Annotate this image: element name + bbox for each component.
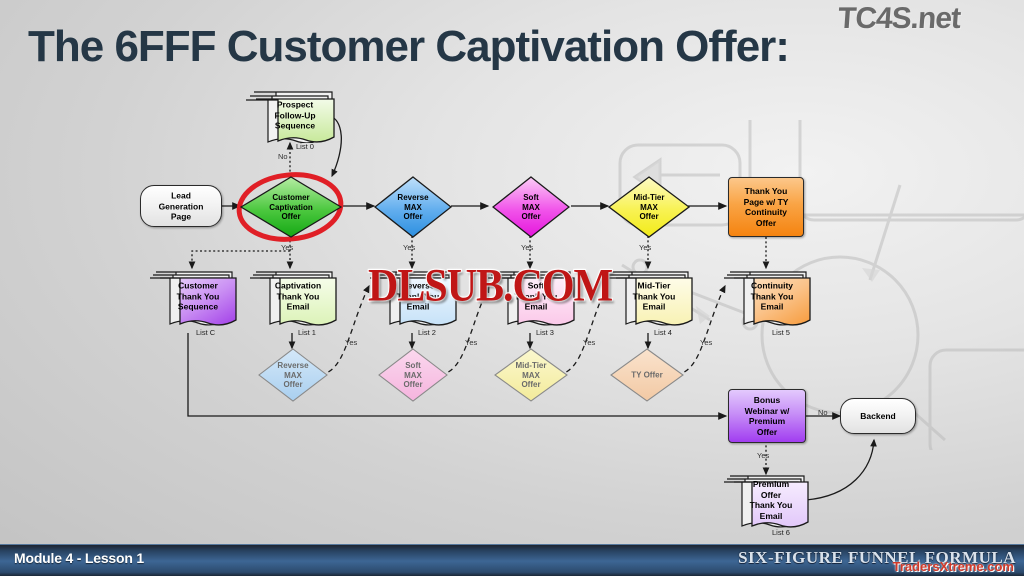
node-continuity-thank-you-email[interactable]: ContinuityThank YouEmail xyxy=(724,270,812,330)
list-label-4: List 4 xyxy=(654,328,672,337)
node-label: BonusWebinar w/PremiumOffer xyxy=(729,395,805,437)
node-mid-tier-max-offer-secondary[interactable]: Mid-TierMAXOffer xyxy=(494,348,568,402)
list-label-c: List C xyxy=(196,328,215,337)
node-backend[interactable]: Backend xyxy=(840,398,916,434)
node-mid-tier-max-offer[interactable]: Mid-TierMAXOffer xyxy=(608,176,690,238)
node-prospect-follow-up-sequence[interactable]: ProspectFollow-UpSequence xyxy=(246,88,336,143)
node-label: Thank YouPage w/ TYContinuityOffer xyxy=(729,186,803,228)
edge-label-yes-soft-low: Yes xyxy=(465,338,477,347)
list-label-2: List 2 xyxy=(418,328,436,337)
node-premium-offer-thank-you-email[interactable]: PremiumOfferThank YouEmail xyxy=(724,474,810,532)
edge-label-yes-ty-low: Yes xyxy=(700,338,712,347)
node-reverse-max-offer[interactable]: ReverseMAXOffer xyxy=(374,176,452,238)
list-label-0: List 0 xyxy=(296,142,314,151)
watermark-tradersxtreme: TradersXtreme.com xyxy=(893,559,1014,574)
edge-label-yes-reverse-low: Yes xyxy=(345,338,357,347)
node-soft-max-offer[interactable]: SoftMAXOffer xyxy=(492,176,570,238)
node-reverse-max-offer-secondary[interactable]: ReverseMAXOffer xyxy=(258,348,328,402)
list-label-1: List 1 xyxy=(298,328,316,337)
edge-label-yes-midtier-low: Yes xyxy=(583,338,595,347)
node-thank-you-page-continuity[interactable]: Thank YouPage w/ TYContinuityOffer xyxy=(728,177,804,237)
node-soft-max-offer-secondary[interactable]: SoftMAXOffer xyxy=(378,348,448,402)
edge-label-yes-soft: Yes xyxy=(521,243,533,252)
node-ty-offer-secondary[interactable]: TY Offer xyxy=(610,348,684,402)
slide-canvas: The 6FFF Customer Captivation Offer: xyxy=(0,0,1024,576)
node-label: LeadGenerationPage xyxy=(141,190,221,222)
footer-module-lesson: Module 4 - Lesson 1 xyxy=(14,550,144,566)
node-label: Backend xyxy=(841,411,915,422)
footer-bar: Module 4 - Lesson 1 SIX-FIGURE FUNNEL FO… xyxy=(0,544,1024,576)
list-label-5: List 5 xyxy=(772,328,790,337)
node-captivation-thank-you-email[interactable]: CaptivationThank YouEmail xyxy=(250,270,338,330)
node-mid-tier-thank-you-email[interactable]: Mid-TierThank YouEmail xyxy=(606,270,694,330)
edge-label-no-prospect: No xyxy=(278,152,288,161)
edge-label-no-backend: No xyxy=(818,408,828,417)
edge-label-yes-captivation: Yes xyxy=(281,243,293,252)
list-label-3: List 3 xyxy=(536,328,554,337)
node-soft-thank-you-email[interactable]: SoftThank YouEmail xyxy=(488,270,576,330)
node-reverse-thank-you-email[interactable]: ReverseThank YouEmail xyxy=(370,270,458,330)
list-label-6: List 6 xyxy=(772,528,790,537)
node-customer-captivation-offer[interactable]: CustomerCaptivationOffer xyxy=(240,176,342,238)
node-lead-generation-page[interactable]: LeadGenerationPage xyxy=(140,185,222,227)
edge-label-yes-premium: Yes xyxy=(757,451,769,460)
edge-label-yes-midtier: Yes xyxy=(639,243,651,252)
node-bonus-webinar[interactable]: BonusWebinar w/PremiumOffer xyxy=(728,389,806,443)
node-customer-thank-you-sequence[interactable]: CustomerThank YouSequence xyxy=(150,270,238,330)
edge-label-yes-reverse: Yes xyxy=(403,243,415,252)
